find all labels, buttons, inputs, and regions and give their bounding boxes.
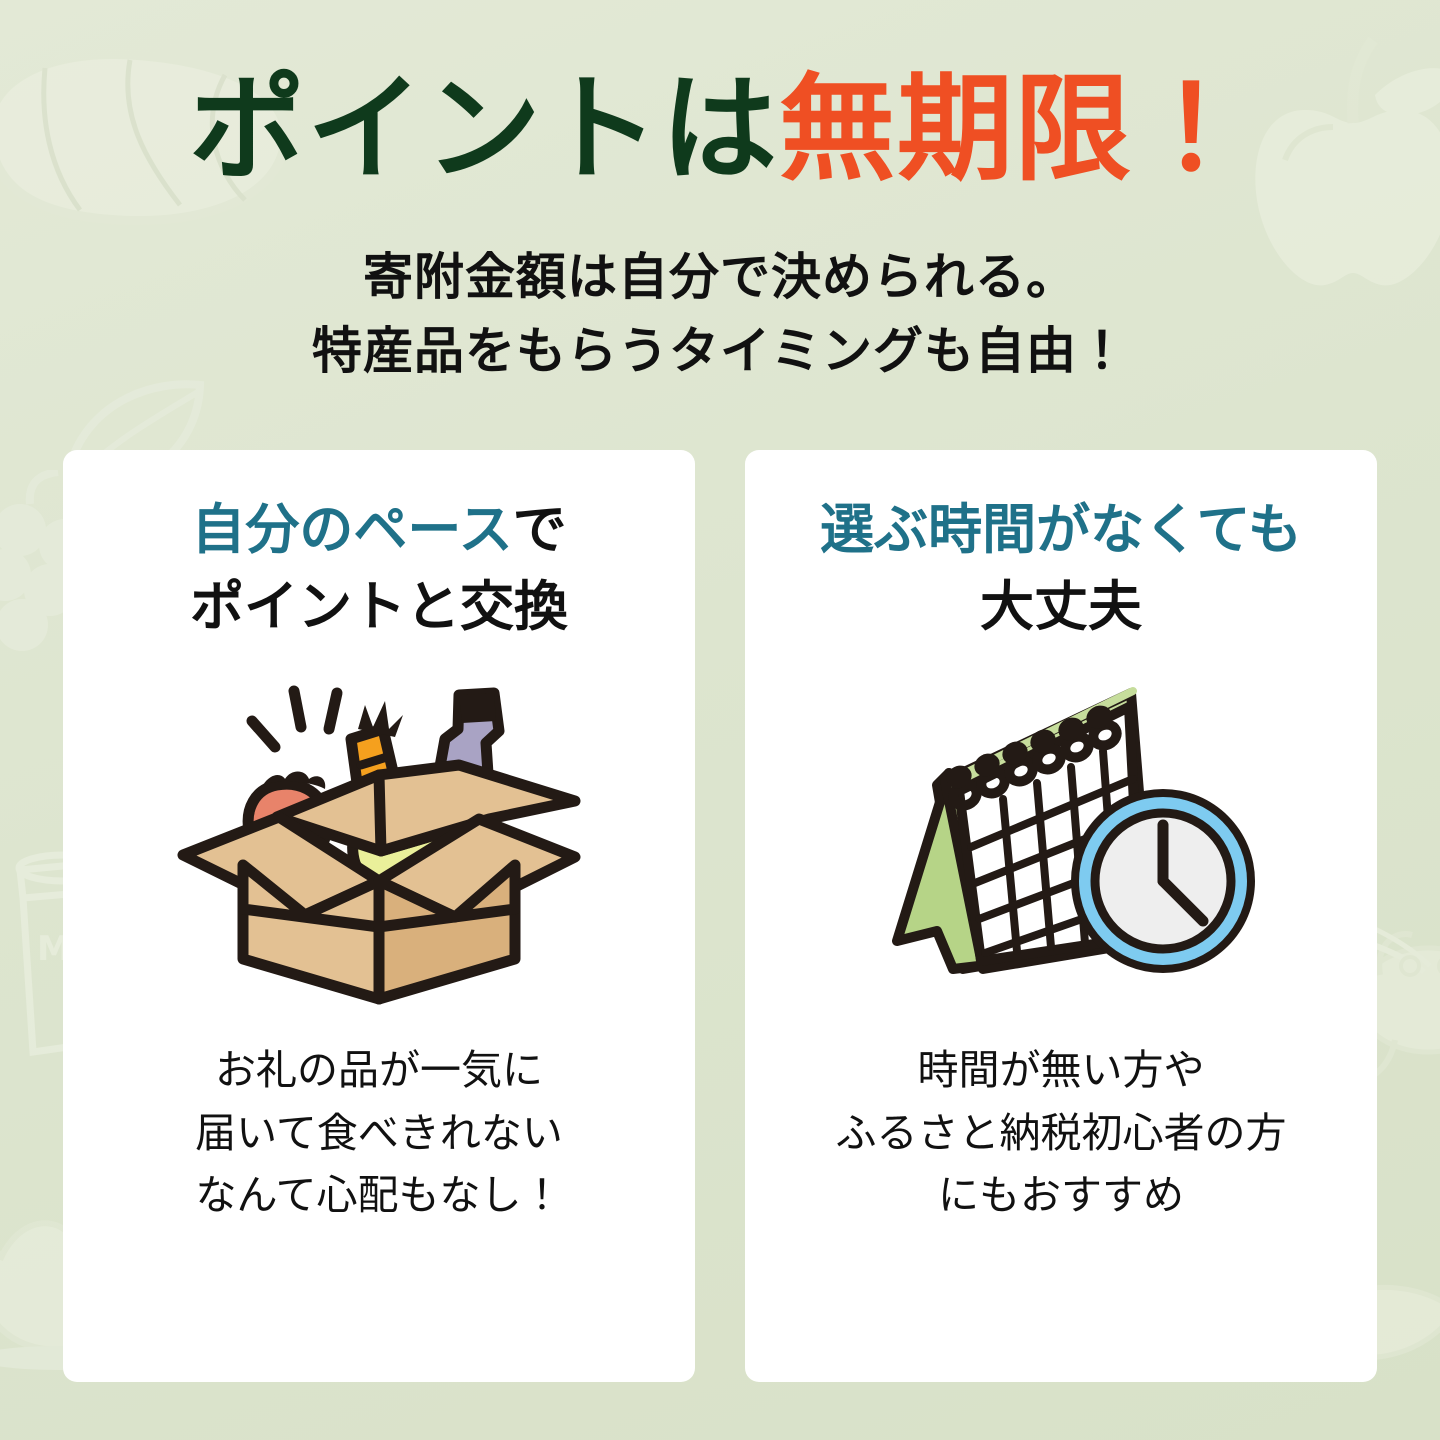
subtitle-line-2: 特産品をもらうタイミングも自由！	[0, 314, 1440, 388]
card-title-accent-text: 選ぶ時間がなくても	[820, 498, 1302, 561]
sparkle-line-right	[329, 693, 337, 729]
card-body-self-pace: お礼の品が一気に 届いて食べきれない なんて心配もなし！	[195, 1039, 563, 1226]
card-title-plain-text: で	[513, 498, 567, 561]
poster-root: MILK ポイントは無期限！	[0, 0, 1440, 1440]
subtitle-line-1: 寄附金額は自分で決められる。	[0, 240, 1440, 314]
card-title-no-time: 選ぶ時間がなくても 大丈夫	[820, 492, 1302, 645]
bottle-neck	[459, 693, 496, 723]
card-body-line-3: なんて心配もなし！	[195, 1164, 563, 1226]
feature-card-self-pace: 自分のペースで ポイントと交換	[63, 450, 695, 1382]
sparkle-line-middle	[294, 691, 301, 727]
card-title-accent-text: 自分のペース	[191, 498, 512, 561]
feature-card-no-time: 選ぶ時間がなくても 大丈夫	[745, 450, 1377, 1382]
page-subtitle: 寄附金額は自分で決められる。 特産品をもらうタイミングも自由！	[0, 240, 1440, 388]
headline-orange-part: 無期限！	[779, 62, 1251, 197]
headline-green-part: ポイントは	[189, 62, 779, 197]
card-title-line-2: ポイントと交換	[190, 569, 568, 646]
card-body-line-2: 届いて食べきれない	[195, 1102, 563, 1164]
sparkle-line-left	[252, 721, 275, 747]
card-body-line-3: にもおすすめ	[836, 1164, 1287, 1226]
card-body-no-time: 時間が無い方や ふるさと納税初心者の方 にもおすすめ	[836, 1039, 1287, 1226]
card-title-self-pace: 自分のペースで ポイントと交換	[190, 492, 568, 645]
produce-box-illustration	[159, 669, 599, 1009]
card-title-line-1: 自分のペースで	[190, 492, 568, 569]
card-body-line-1: お礼の品が一気に	[195, 1039, 563, 1101]
feature-cards: 自分のペースで ポイントと交換	[63, 450, 1377, 1382]
card-title-line-2: 大丈夫	[820, 569, 1302, 646]
page-headline: ポイントは無期限！	[0, 62, 1440, 199]
card-body-line-2: ふるさと納税初心者の方	[836, 1102, 1287, 1164]
card-title-line-1: 選ぶ時間がなくても	[820, 492, 1302, 569]
card-body-line-1: 時間が無い方や	[836, 1039, 1287, 1101]
calendar-clock-illustration	[841, 669, 1281, 1009]
